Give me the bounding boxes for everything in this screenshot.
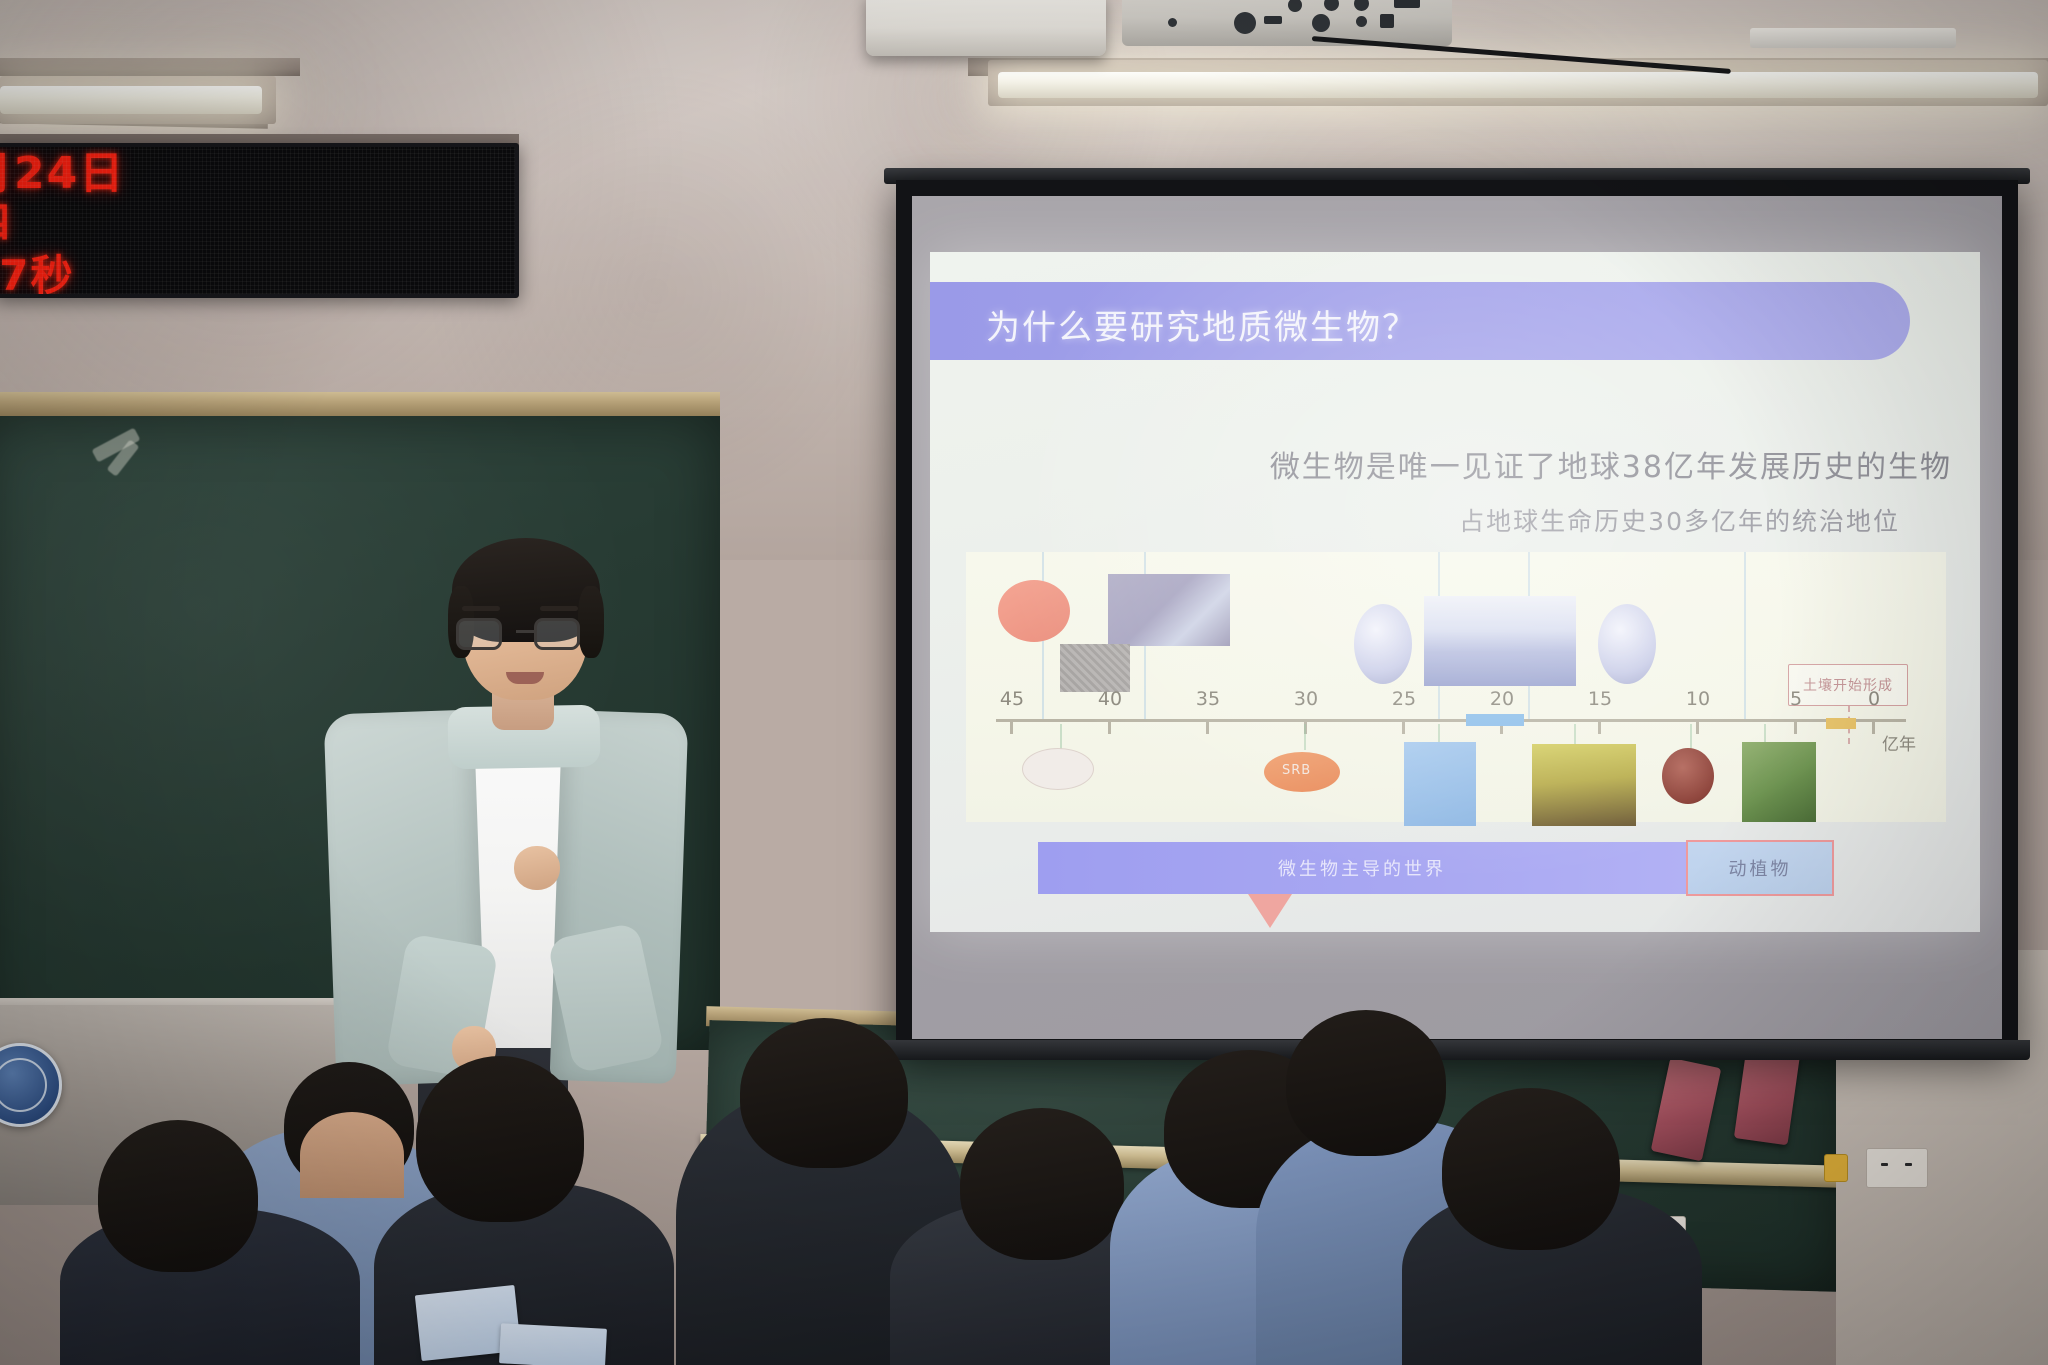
presenter-hand-right xyxy=(514,846,560,890)
slide-title: 为什么要研究地质微生物？ xyxy=(986,300,1418,349)
timeline-guide xyxy=(1744,552,1746,719)
ceiling-light-right xyxy=(998,72,2038,98)
projector-port xyxy=(1380,14,1394,28)
projector-vga-port xyxy=(1394,0,1420,8)
projector-lens xyxy=(1750,28,1956,48)
projector-port xyxy=(1264,16,1282,24)
projector-housing xyxy=(866,0,1106,56)
projector-port-panel xyxy=(1122,0,1452,46)
presenter-hair-right xyxy=(578,586,604,658)
slide-body-line-1: 微生物是唯一见证了地球38亿年发展历史的生物 xyxy=(930,442,1952,486)
timeline-stem xyxy=(1690,724,1692,750)
projector-port xyxy=(1356,16,1367,27)
slide-body-line-2: 占地球生命历史30多亿年的统治地位 xyxy=(930,502,1900,538)
timeline-tick xyxy=(1402,719,1405,734)
warning-marker xyxy=(1824,1154,1848,1182)
era-banner-group: 微生物主导的世界 动植物 xyxy=(1038,842,1834,894)
timeline-unit-label: 亿年 xyxy=(1882,730,1916,755)
timeline-tick xyxy=(1108,719,1111,734)
protocell-graphic xyxy=(1022,748,1094,790)
student-head xyxy=(416,1056,584,1222)
power-socket[interactable] xyxy=(1866,1148,1928,1188)
projection-screen-surface: 为什么要研究地质微生物？ 微生物是唯一见证了地球38亿年发展历史的生物 占地球生… xyxy=(912,196,2002,1039)
timeline-stem xyxy=(1304,724,1306,750)
timeline-tick xyxy=(1696,719,1699,734)
timeline-tick-label: 40 xyxy=(1098,688,1122,710)
vegetation-graphic xyxy=(1742,742,1816,822)
microbe-sphere-graphic xyxy=(1354,604,1412,684)
projector-port xyxy=(1288,0,1302,12)
timeline-tick xyxy=(1010,719,1013,734)
timeline-panel: 土壤开始形成 45 40 xyxy=(966,552,1946,822)
timeline-tick-label: 30 xyxy=(1294,688,1318,710)
landscape-graphic xyxy=(1532,744,1636,826)
presenter-mouth xyxy=(506,672,544,684)
timeline-tick-label: 45 xyxy=(1000,688,1024,710)
ceiling-light-left xyxy=(0,86,262,114)
rock-texture-graphic xyxy=(1060,644,1130,692)
timeline-tick xyxy=(1598,719,1601,734)
projection-screen-frame: 为什么要研究地质微生物？ 微生物是唯一见证了地球38亿年发展历史的生物 占地球生… xyxy=(896,180,2018,1055)
timeline-tick-label: 20 xyxy=(1490,688,1514,710)
glasses-lens-right xyxy=(534,618,580,650)
student-head xyxy=(1286,1010,1446,1156)
projector-port xyxy=(1354,0,1369,11)
presentation-slide: 为什么要研究地质微生物？ 微生物是唯一见证了地球38亿年发展历史的生物 占地球生… xyxy=(930,252,1980,932)
microbe-sphere-graphic xyxy=(1598,604,1656,684)
timeline-tick-label: 10 xyxy=(1686,688,1710,710)
timeline-stem xyxy=(1060,724,1062,750)
down-arrow-icon xyxy=(1248,894,1292,928)
projector-port xyxy=(1168,18,1177,27)
microbe-era-banner: 微生物主导的世界 xyxy=(1038,842,1686,894)
led-clock-display: 月24日 四 17秒 xyxy=(0,143,519,298)
screen-bottom-bar xyxy=(884,1040,2030,1060)
presenter-brow-left xyxy=(462,606,500,611)
timeline-tick-label: 0 xyxy=(1868,688,1880,710)
timeline-axis xyxy=(996,719,1906,722)
student-head xyxy=(960,1108,1124,1260)
glasses-bridge xyxy=(516,630,534,633)
student-head xyxy=(98,1120,258,1272)
timeline-tick-label: 15 xyxy=(1588,688,1612,710)
blackboard-top-trim xyxy=(0,392,720,418)
handout-paper[interactable] xyxy=(499,1323,607,1365)
space-photo-graphic xyxy=(1108,574,1230,646)
student-head xyxy=(740,1018,908,1168)
glasses-lens-left xyxy=(456,618,502,650)
ocean-strip-graphic xyxy=(1424,596,1576,686)
projector-port xyxy=(1234,12,1256,34)
student-head xyxy=(1442,1088,1620,1250)
srb-label: SRB xyxy=(1282,763,1311,778)
microbe-era-label: 微生物主导的世界 xyxy=(1278,855,1446,881)
timeline-marker-yellow xyxy=(1826,718,1856,729)
timeline-tick-label: 25 xyxy=(1392,688,1416,710)
timeline-marker-blue xyxy=(1466,714,1524,726)
microfossil-graphic xyxy=(1404,742,1476,826)
animal-plant-banner: 动植物 xyxy=(1686,840,1834,896)
timeline-tick-label: 5 xyxy=(1790,688,1802,710)
timeline-tick xyxy=(1794,719,1797,734)
early-earth-graphic xyxy=(998,580,1070,642)
fungus-graphic xyxy=(1662,748,1714,804)
srb-bacteria-graphic: SRB xyxy=(1264,752,1340,792)
animal-plant-label: 动植物 xyxy=(1729,855,1792,881)
timeline-tick-label: 35 xyxy=(1196,688,1220,710)
ceiling-beam-left xyxy=(0,58,300,76)
timeline-tick xyxy=(1206,719,1209,734)
student-face xyxy=(300,1112,404,1198)
projector-port xyxy=(1312,14,1330,32)
presenter-brow-right xyxy=(540,606,578,611)
projector-port xyxy=(1324,0,1339,11)
soil-formation-callout: 土壤开始形成 xyxy=(1788,664,1908,706)
timeline-tick xyxy=(1872,719,1875,734)
classroom-photo: 月24日 四 17秒 为什么要研究地质微生物？ 微生物是唯一见证了地球38亿年发… xyxy=(0,0,2048,1365)
led-dot-matrix xyxy=(0,147,515,294)
